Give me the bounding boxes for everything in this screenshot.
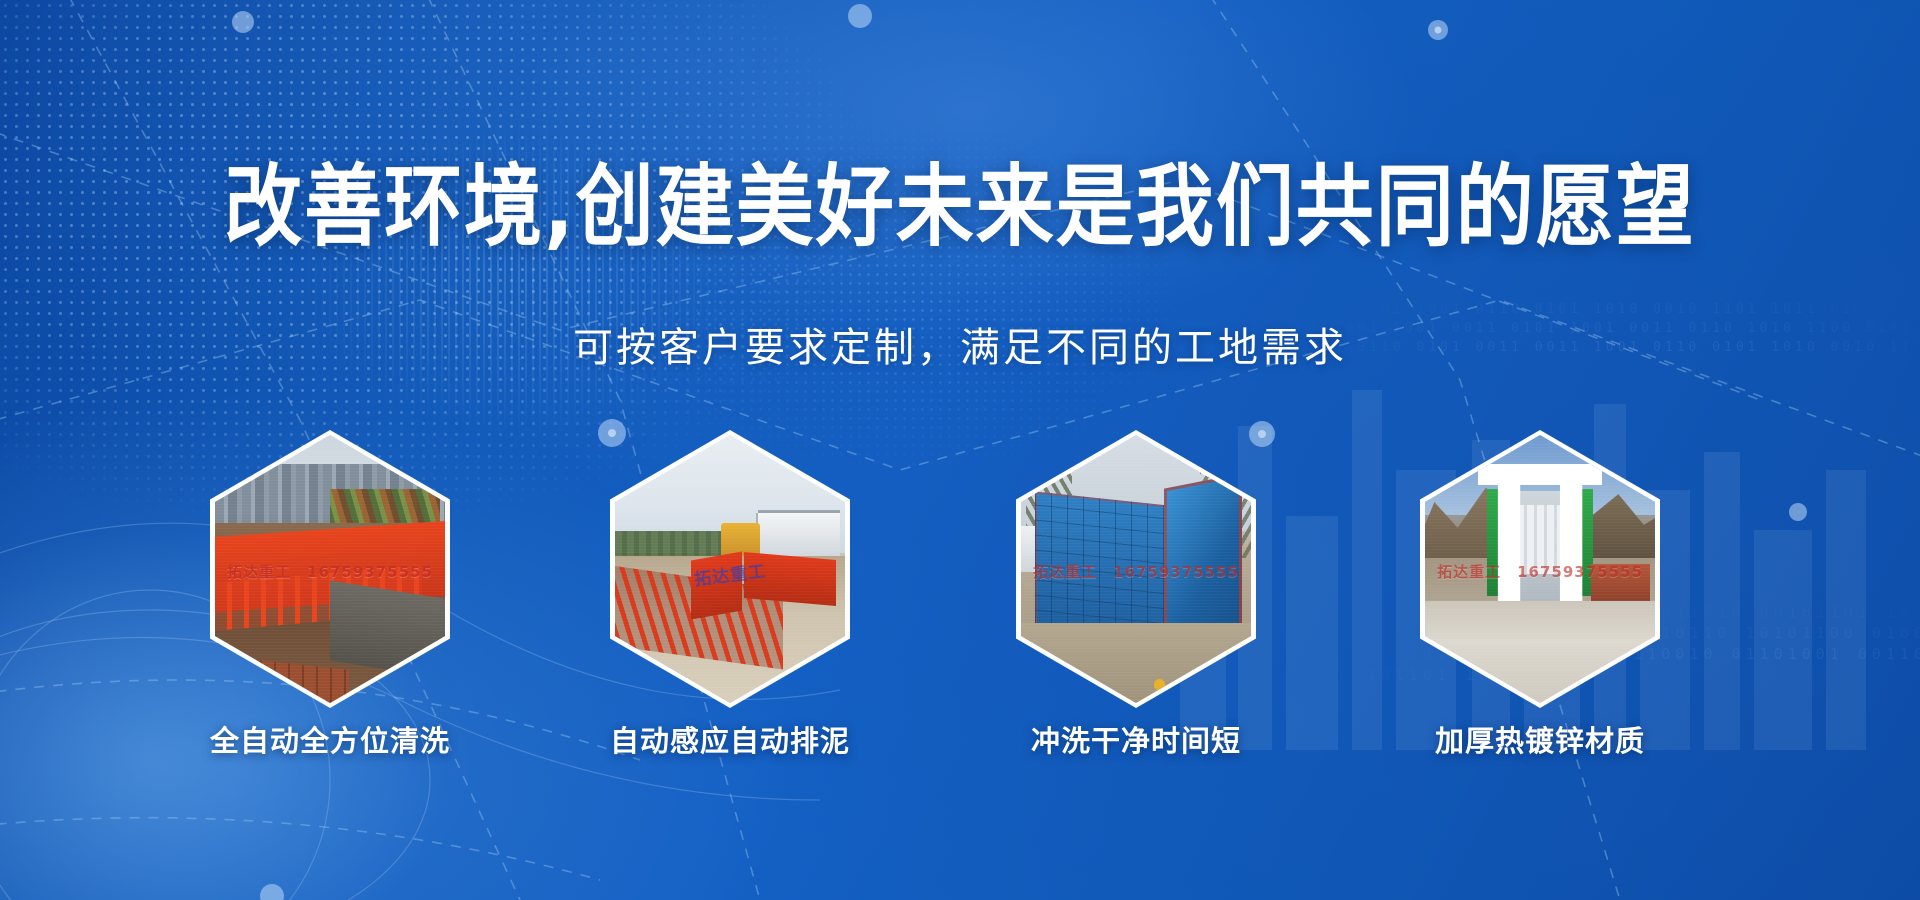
hexagon-frame: 拓达重工 <box>610 430 850 708</box>
banner-subheadline: 可按客户要求定制，满足不同的工地需求 <box>0 322 1920 374</box>
hexagon-frame: 拓达重工 16759375555 <box>210 430 450 708</box>
feature-card-2[interactable]: 拓达重工 自动感应自动排泥 <box>610 430 850 708</box>
feature-caption-3: 冲洗干净时间短 <box>986 722 1286 760</box>
feature-caption-2: 自动感应自动排泥 <box>580 722 880 760</box>
feature-card-3[interactable]: 拓达重工 16759375555 冲洗干净时间短 <box>1016 430 1256 708</box>
hexagon-photo-clip: 拓达重工 16759375555 <box>1425 435 1655 703</box>
hexagon-photo-clip: 拓达重工 16759375555 <box>1021 435 1251 703</box>
photo-watermark: 拓达重工 16759375555 <box>1425 561 1655 582</box>
hexagon-photo-clip: 拓达重工 <box>615 435 845 703</box>
feature-card-4[interactable]: 拓达重工 16759375555 加厚热镀锌材质 <box>1420 430 1660 708</box>
photo-watermark: 拓达重工 16759375555 <box>1021 561 1251 582</box>
feature-caption-4: 加厚热镀锌材质 <box>1390 722 1690 760</box>
promo-banner: 01001100 10110010 01101001 00110101 1001… <box>0 0 1920 900</box>
photo-watermark: 拓达重工 16759375555 <box>215 561 445 582</box>
feature-caption-1: 全自动全方位清洗 <box>180 722 480 760</box>
hexagon-photo-clip: 拓达重工 16759375555 <box>215 435 445 703</box>
feature-card-row: 拓达重工 16759375555 全自动全方位清洗 拓达重工 自动感应自动排泥 <box>0 430 1920 740</box>
banner-headline: 改善环境,创建美好未来是我们共同的愿望 <box>0 156 1920 261</box>
hexagon-frame: 拓达重工 16759375555 <box>1420 430 1660 708</box>
feature-card-1[interactable]: 拓达重工 16759375555 全自动全方位清洗 <box>210 430 450 708</box>
hexagon-frame: 拓达重工 16759375555 <box>1016 430 1256 708</box>
